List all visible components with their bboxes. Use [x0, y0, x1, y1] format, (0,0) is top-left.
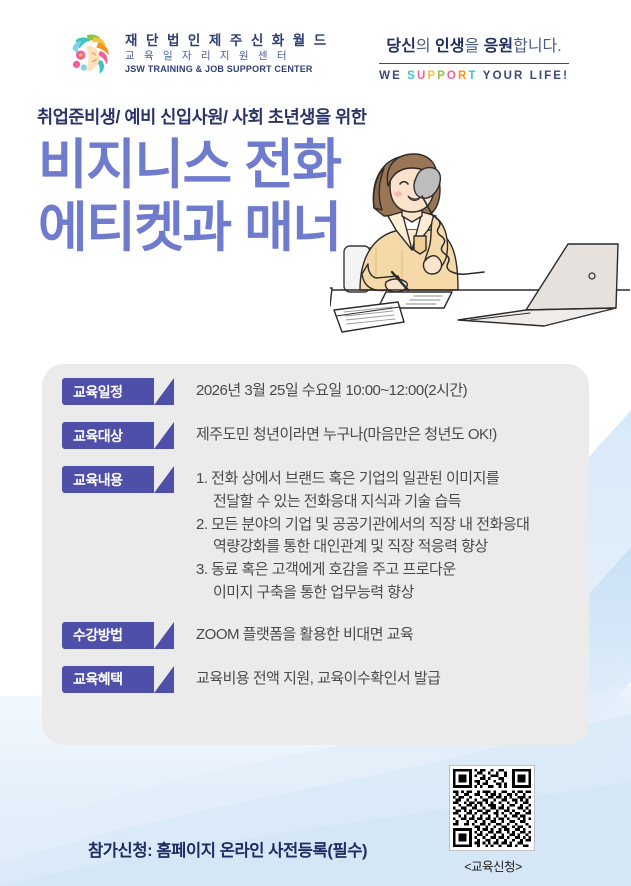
info-row-value-1: 제주도민 청년이라면 누구나(마음만은 청년도 OK!): [196, 422, 573, 447]
slogan-en-letter: U: [504, 70, 514, 82]
slogan-en-letter: R: [458, 70, 468, 82]
qr-block[interactable]: <교육신청>: [449, 765, 537, 875]
info-row-line: 2. 모든 분야의 기업 및 공공기관에서의 직장 내 전화응대: [196, 514, 573, 537]
qr-caption: <교육신청>: [449, 856, 537, 875]
slogan-en-letter: U: [417, 70, 427, 82]
slogan-kr-part: 합니다.: [513, 38, 562, 55]
info-row-label-4: 교육혜택: [62, 666, 154, 693]
slogan-kr-part: 응원: [484, 38, 513, 55]
info-row-line: 2026년 3월 25일 수요일 10:00~12:00(2시간): [196, 380, 573, 403]
slogan-en-letter: Y: [483, 70, 493, 82]
woman-on-telephone-at-desk-illustration: [330, 150, 630, 350]
slogan-korean: 당신의 인생을 응원합니다.: [379, 32, 569, 56]
info-card: 교육일정2026년 3월 25일 수요일 10:00~12:00(2시간)교육대…: [42, 364, 589, 745]
organization-name-kr-line1: 재 단 법 인 제 주 신 화 월 드: [125, 34, 329, 48]
headline-title-line2: 에티켓과 매너: [38, 197, 341, 260]
slogan-en-letter: P: [437, 70, 447, 82]
slogan-kr-part: 당신: [386, 38, 415, 55]
info-row-line: 교육비용 전액 지원, 교육이수확인서 발급: [196, 668, 573, 691]
info-row: 교육혜택교육비용 전액 지원, 교육이수확인서 발급: [62, 666, 573, 693]
info-row-line: 제주도민 청년이라면 누구나(마음만은 청년도 OK!): [196, 424, 573, 447]
slogan-kr-part: 인생: [435, 38, 464, 55]
slogan-en-letter: W: [379, 70, 392, 82]
jsw-flower-face-logo-icon: [62, 28, 116, 80]
slogan-english: WE SUPPORT YOUR LIFE!: [379, 70, 569, 82]
info-row-label-2: 교육내용: [62, 466, 154, 493]
slogan-kr-part: 의: [416, 38, 435, 55]
info-row: 교육일정2026년 3월 25일 수요일 10:00~12:00(2시간): [62, 378, 573, 405]
info-row-label-3: 수강방법: [62, 622, 154, 649]
info-row-value-0: 2026년 3월 25일 수요일 10:00~12:00(2시간): [196, 378, 573, 403]
slogan-en-letter: L: [530, 70, 539, 82]
organization-name-block: 재 단 법 인 제 주 신 화 월 드 교 육 일 자 리 지 원 센 터 JS…: [125, 34, 329, 74]
slogan-en-letter: P: [427, 70, 437, 82]
organization-name-en: JSW TRAINING & JOB SUPPORT CENTER: [125, 65, 329, 74]
slogan-divider: [379, 63, 569, 64]
info-row-value-4: 교육비용 전액 지원, 교육이수확인서 발급: [196, 666, 573, 691]
info-row: 수강방법ZOOM 플랫폼을 활용한 비대면 교육: [62, 622, 573, 649]
info-row-line: 전달할 수 있는 전화응대 지식과 기술 습득: [196, 491, 573, 514]
slogan-en-letter: R: [514, 70, 524, 82]
slogan-en-letter: O: [493, 70, 504, 82]
slogan-en-letter: S: [407, 70, 417, 82]
slogan-kr-part: 을: [464, 38, 483, 55]
contact-block: 참가신청: 홈페이지 온라인 사전등록(필수) 홈페이지: www.jswjob…: [88, 785, 367, 886]
qr-code-icon[interactable]: [449, 765, 535, 851]
slogan-en-letter: T: [468, 70, 477, 82]
info-row-label-0: 교육일정: [62, 378, 154, 405]
contact-line-registration: 참가신청: 홈페이지 온라인 사전등록(필수): [88, 838, 367, 865]
info-row-line: 역량강화를 통한 대인관계 및 직장 적응력 향상: [196, 536, 573, 559]
info-row-line: 1. 전화 상에서 브랜드 혹은 기업의 일관된 이미지를: [196, 468, 573, 491]
poster-root: 재 단 법 인 제 주 신 화 월 드 교 육 일 자 리 지 원 센 터 JS…: [0, 0, 631, 886]
info-row-line: 3. 동료 혹은 고객에게 호감을 주고 프로다운: [196, 559, 573, 582]
info-row-line: 이미지 구축을 통한 업무능력 향상: [196, 582, 573, 605]
slogan-en-letter: O: [447, 70, 458, 82]
info-row: 교육대상제주도민 청년이라면 누구나(마음만은 청년도 OK!): [62, 422, 573, 449]
organization-name-kr-line2: 교 육 일 자 리 지 원 센 터: [125, 51, 329, 62]
slogan-en-letter: E: [553, 70, 563, 82]
headline-title: 비지니스 전화 에티켓과 매너: [38, 134, 341, 260]
slogan-en-letter: !: [563, 70, 569, 82]
info-row-label-1: 교육대상: [62, 422, 154, 449]
info-row: 교육내용1. 전화 상에서 브랜드 혹은 기업의 일관된 이미지를전달할 수 있…: [62, 466, 573, 605]
info-rows: 교육일정2026년 3월 25일 수요일 10:00~12:00(2시간)교육대…: [62, 378, 573, 693]
headline-title-line1: 비지니스 전화: [38, 134, 341, 197]
info-row-line: ZOOM 플랫폼을 활용한 비대면 교육: [196, 624, 573, 647]
poster-header: 재 단 법 인 제 주 신 화 월 드 교 육 일 자 리 지 원 센 터 JS…: [0, 26, 631, 92]
slogan-en-letter: E: [392, 70, 402, 82]
info-row-value-2: 1. 전화 상에서 브랜드 혹은 기업의 일관된 이미지를전달할 수 있는 전화…: [196, 466, 573, 605]
slogan-block: 당신의 인생을 응원합니다. WE SUPPORT YOUR LIFE!: [379, 32, 569, 82]
info-row-value-3: ZOOM 플랫폼을 활용한 비대면 교육: [196, 622, 573, 647]
headline-subtitle: 취업준비생/ 예비 신입사원/ 사회 초년생을 위한: [37, 104, 367, 129]
slogan-en-letter: F: [544, 70, 553, 82]
organization-logo: 재 단 법 인 제 주 신 화 월 드 교 육 일 자 리 지 원 센 터 JS…: [62, 28, 329, 80]
